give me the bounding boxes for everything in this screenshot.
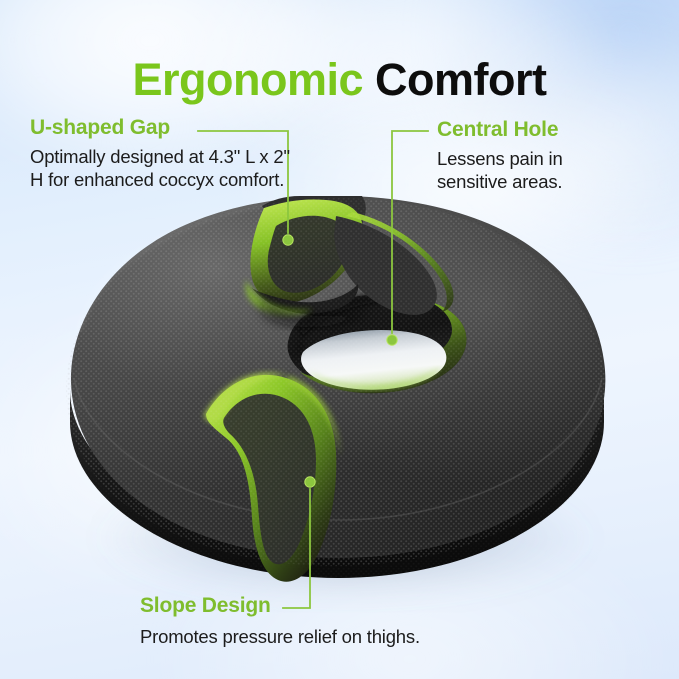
callout-body-u-shaped-gap: Optimally designed at 4.3" L x 2" H for …	[30, 145, 292, 192]
callout-u-shaped-gap: U-shaped Gap Optimally designed at 4.3" …	[30, 116, 292, 192]
infographic-canvas: Ergonomic Comfort U-shaped Gap Optimally…	[0, 0, 679, 679]
callout-title-slope-design: Slope Design	[140, 594, 540, 617]
callout-body-central-hole: Lessens pain in sensitive areas.	[437, 147, 637, 194]
callout-body-slope-design: Promotes pressure relief on thighs.	[140, 625, 540, 648]
page-title-dark: Comfort	[375, 54, 546, 105]
callout-central-hole: Central Hole Lessens pain in sensitive a…	[437, 118, 637, 194]
callout-title-central-hole: Central Hole	[437, 118, 637, 141]
page-title: Ergonomic Comfort	[0, 57, 679, 102]
page-title-green: Ergonomic	[132, 54, 363, 105]
callout-slope-design: Slope Design Promotes pressure relief on…	[140, 594, 540, 648]
callout-title-u-shaped-gap: U-shaped Gap	[30, 116, 292, 139]
